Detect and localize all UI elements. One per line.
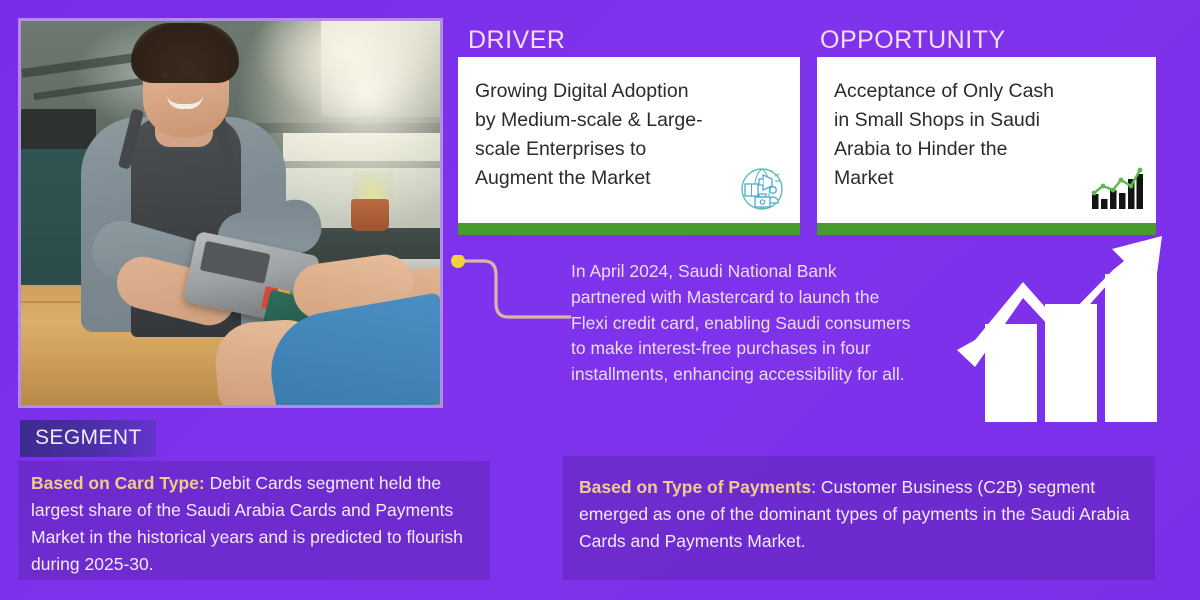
photo-eye <box>161 73 170 78</box>
segment-card-type-bold-label: Based on Card Type: <box>31 473 205 493</box>
driver-card-text: Growing Digital Adoption by Medium-scale… <box>475 77 775 193</box>
opportunity-card: Acceptance of Only Cash in Small Shops i… <box>817 57 1156 235</box>
upward-arrow-bar-chart-graphic <box>955 232 1170 422</box>
segment-section-label: SEGMENT <box>20 420 156 457</box>
driver-section-label: DRIVER <box>468 26 565 55</box>
driver-card: Growing Digital Adoption by Medium-scale… <box>458 57 800 235</box>
photo-scene <box>21 21 440 405</box>
photo-hair <box>131 23 239 83</box>
bar-chart-growth-icon <box>1088 166 1144 217</box>
segment-payment-type-bold-label: Based on Type of Payments <box>579 477 811 497</box>
segment-card-type-panel: Based on Card Type: Debit Cards segment … <box>18 461 490 580</box>
opportunity-section-label: OPPORTUNITY <box>820 26 1006 55</box>
s-curve-connector-with-dot <box>448 255 573 335</box>
photo-pos-screen <box>200 241 271 284</box>
photo-plant-pot <box>351 199 389 231</box>
digital-marketing-globe-icon <box>736 166 788 217</box>
infographic-canvas: DRIVER Growing Digital Adoption by Mediu… <box>0 0 1200 600</box>
shopkeeper-payment-photo <box>18 18 443 408</box>
connector-dot <box>451 255 465 268</box>
news-highlight-text: In April 2024, Saudi National Bank partn… <box>571 259 971 388</box>
photo-eye <box>197 73 206 78</box>
segment-payment-type-panel: Based on Type of Payments: Customer Busi… <box>563 456 1155 580</box>
